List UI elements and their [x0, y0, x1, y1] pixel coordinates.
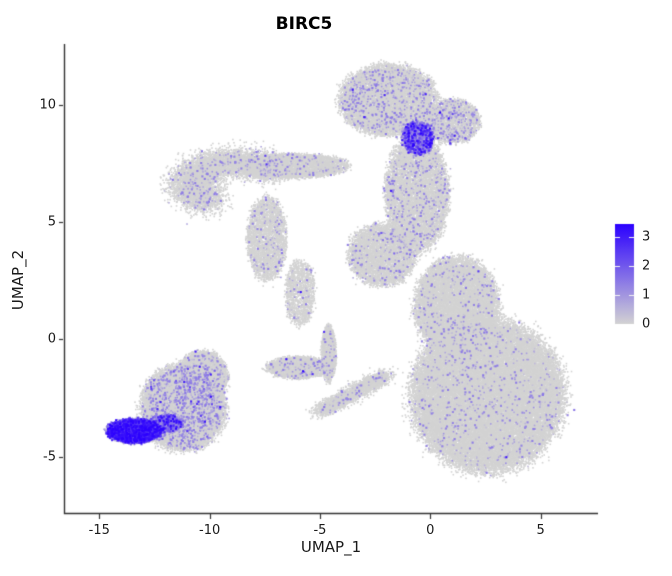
umap-feature-plot: BIRC5 UMAP_1 UMAP_2 -15-10-505 1050-5 01… [0, 0, 672, 576]
scatter-plot-canvas [0, 0, 672, 576]
